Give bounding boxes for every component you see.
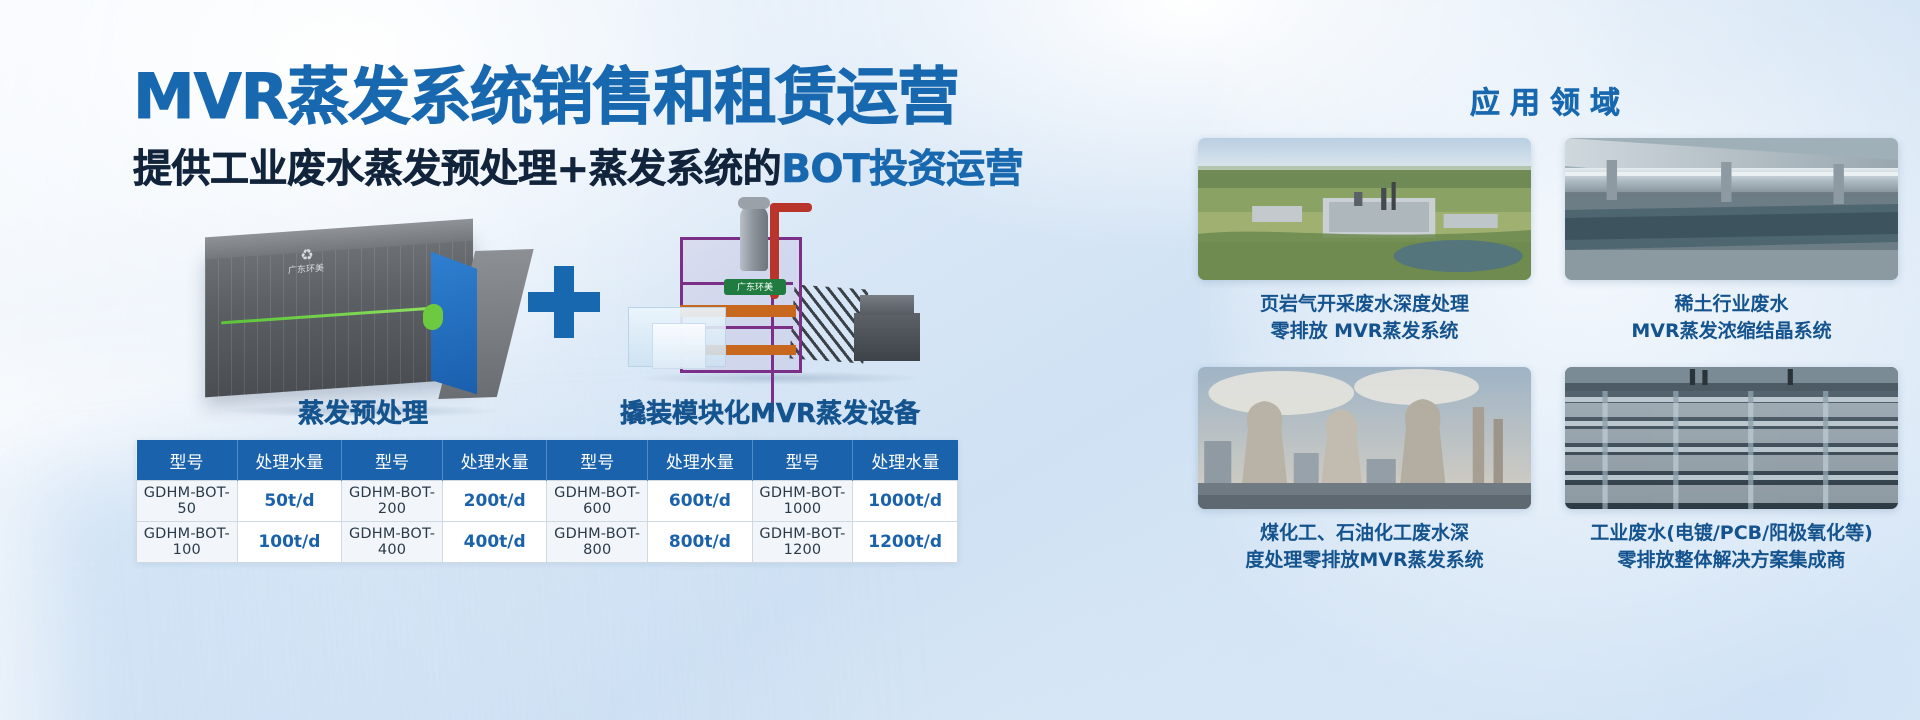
shale-gas-field-photo [1198,138,1531,280]
brand-logo-mark: ♻ 广东环美 [271,248,341,279]
clear-tank-inner [652,323,706,369]
table-cell-model: GDHM-BOT-1200 [752,522,853,563]
table-cell-capacity: 400t/d [442,522,547,563]
application-card[interactable]: 页岩气开采废水深度处理 零排放 MVR蒸发系统 [1198,138,1531,345]
specification-table: 型号 处理水量 型号 处理水量 型号 处理水量 型号 处理水量 GDHM-BOT… [136,440,958,563]
table-cell-model: GDHM-BOT-800 [547,522,648,563]
container-green-indicator [423,303,443,330]
table-cell-capacity: 200t/d [442,481,547,522]
product-image-evaporation-pretreatment: ♻ 广东环美 [205,228,515,408]
table-cell-model: GDHM-BOT-100 [137,522,238,563]
caption-line-1: 稀土行业废水 [1565,291,1898,318]
left-content-column: MVR蒸发系统销售和租赁运营 提供工业废水蒸发预处理+蒸发系统的BOT投资运营 … [0,0,1180,720]
brand-logo-label: 广东环美 [288,263,324,276]
table-cell-model: GDHM-BOT-600 [547,481,648,522]
table-cell-model: GDHM-BOT-400 [342,522,443,563]
application-caption: 工业废水(电镀/PCB/阳极氧化等) 零排放整体解决方案集成商 [1565,520,1898,574]
caption-line-2: 零排放整体解决方案集成商 [1565,547,1898,574]
table-header-cell: 型号 [137,440,238,481]
application-caption: 页岩气开采废水深度处理 零排放 MVR蒸发系统 [1198,291,1531,345]
table-cell-model: GDHM-BOT-1000 [752,481,853,522]
applications-grid: 页岩气开采废水深度处理 零排放 MVR蒸发系统 [1198,138,1898,574]
table-cell-capacity: 50t/d [237,481,342,522]
vessel-cap [738,197,770,209]
table-header-cell: 处理水量 [853,440,958,481]
application-caption: 煤化工、石油化工废水深 度处理零排放MVR蒸发系统 [1198,520,1531,574]
red-pipe-horizontal [770,203,812,212]
application-caption: 稀土行业废水 MVR蒸发浓缩结晶系统 [1565,291,1898,345]
power-plant-cooling-towers-photo [1198,367,1531,509]
table-header-cell: 处理水量 [442,440,547,481]
product-shadow [634,371,924,385]
applications-column: 应用领域 [1180,0,1920,720]
wastewater-treatment-basin-photo [1565,367,1898,509]
table-cell-model: GDHM-BOT-200 [342,481,443,522]
control-unit [854,313,920,361]
plus-icon [528,266,600,338]
caption-line-1: 工业废水(电镀/PCB/阳极氧化等) [1565,520,1898,547]
table-row: GDHM-BOT-50 50t/d GDHM-BOT-200 200t/d GD… [137,481,958,522]
applications-section-title: 应用领域 [1180,78,1920,122]
product-caption-1: 蒸发预处理 [298,393,428,430]
banner-title: MVR蒸发系统销售和租赁运营 [133,66,958,128]
banner-subtitle: 提供工业废水蒸发预处理+蒸发系统的BOT投资运营 [133,150,1023,189]
subtitle-main-text: 提供工业废水蒸发预处理+蒸发系统的 [133,147,781,192]
caption-line-1: 煤化工、石油化工废水深 [1198,520,1531,547]
equipment-brand-badge: 广东环美 [724,279,786,295]
evaporator-vessel [740,205,768,271]
caption-line-2: 度处理零排放MVR蒸发系统 [1198,547,1531,574]
table-cell-capacity: 1000t/d [853,481,958,522]
product-image-skid-mvr-evaporator: 广东环美 [628,195,928,410]
application-card[interactable]: 稀土行业废水 MVR蒸发浓缩结晶系统 [1565,138,1898,345]
table-cell-capacity: 800t/d [648,522,753,563]
table-header-cell: 处理水量 [237,440,342,481]
table-cell-capacity: 100t/d [237,522,342,563]
mvr-promo-banner: MVR蒸发系统销售和租赁运营 提供工业废水蒸发预处理+蒸发系统的BOT投资运营 … [0,0,1920,720]
table-row: GDHM-BOT-100 100t/d GDHM-BOT-400 400t/d … [137,522,958,563]
table-cell-capacity: 600t/d [648,481,753,522]
industrial-pipe-channel-photo [1565,138,1898,280]
table-cell-capacity: 1200t/d [853,522,958,563]
caption-line-2: MVR蒸发浓缩结晶系统 [1565,318,1898,345]
subtitle-highlight-text: BOT投资运营 [781,147,1023,192]
table-header-cell: 型号 [752,440,853,481]
table-header-cell: 型号 [342,440,443,481]
product-caption-2: 撬装模块化MVR蒸发设备 [620,393,920,430]
table-header-cell: 型号 [547,440,648,481]
table-header-row: 型号 处理水量 型号 处理水量 型号 处理水量 型号 处理水量 [137,440,958,481]
table-header-cell: 处理水量 [648,440,753,481]
caption-line-2: 零排放 MVR蒸发系统 [1198,318,1531,345]
application-card[interactable]: 煤化工、石油化工废水深 度处理零排放MVR蒸发系统 [1198,367,1531,574]
caption-line-1: 页岩气开采废水深度处理 [1198,291,1531,318]
control-unit-top [860,295,914,315]
table-cell-model: GDHM-BOT-50 [137,481,238,522]
application-card[interactable]: 工业废水(电镀/PCB/阳极氧化等) 零排放整体解决方案集成商 [1565,367,1898,574]
